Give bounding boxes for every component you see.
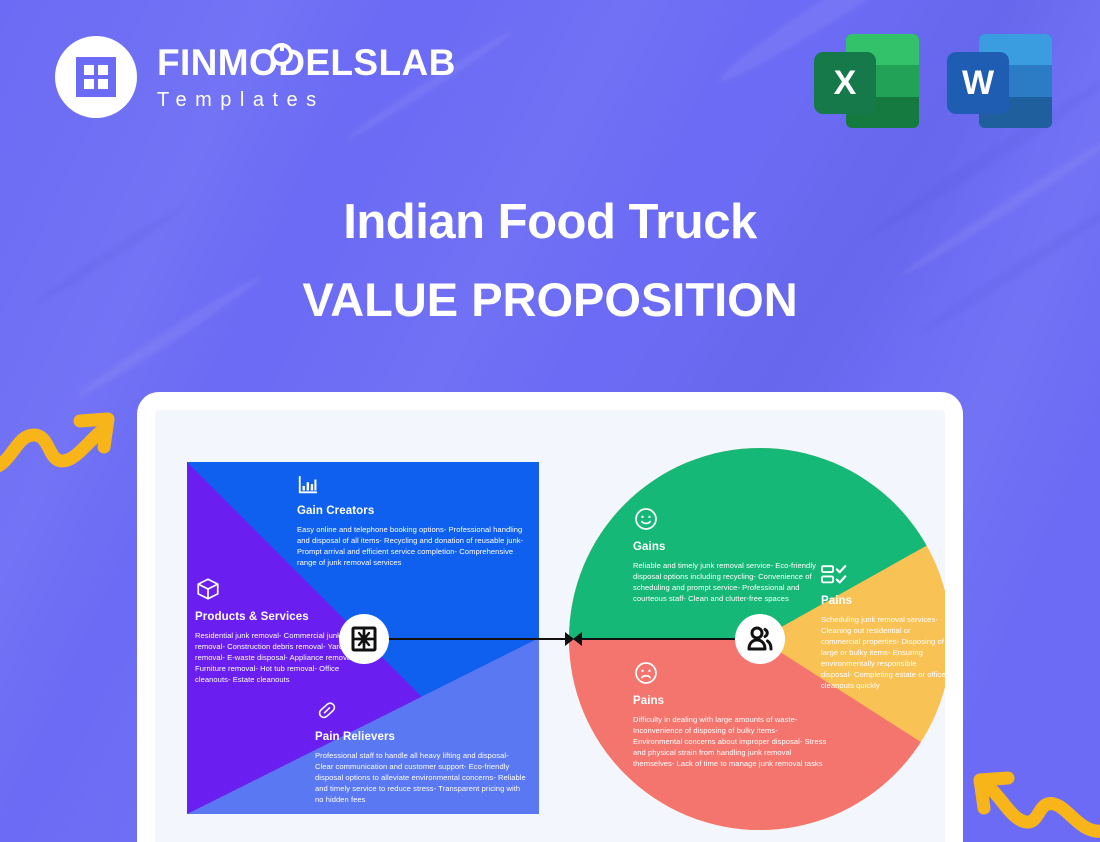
connector-line-left [387, 638, 573, 640]
brand-name: FINMODELSLAB [157, 44, 456, 81]
section-title: Products & Services [195, 611, 367, 623]
page-title: Indian Food Truck VALUE PROPOSITION [0, 196, 1100, 327]
section-title: Pains [633, 695, 829, 707]
section-title: Gains [633, 541, 823, 553]
value-proposition-canvas: Gain Creators Easy online and telephone … [187, 438, 913, 834]
title-line-1: Indian Food Truck [0, 196, 1100, 250]
word-letter: W [947, 52, 1009, 114]
connector-line-right [579, 638, 739, 640]
value-map-center-badge[interactable] [339, 614, 389, 664]
brand-text: FINMODELSLAB Templates [157, 42, 456, 112]
pill-capsule-icon [315, 698, 339, 722]
smiley-happy-icon [633, 506, 659, 532]
section-title: Gain Creators [297, 505, 525, 517]
title-line-2: VALUE PROPOSITION [0, 272, 1100, 327]
checklist-icon [821, 564, 849, 586]
section-pain-relievers[interactable]: Pain Relievers Professional staff to han… [315, 698, 527, 805]
smiley-sad-icon [633, 660, 659, 686]
logo-power-dot-icon [270, 43, 293, 66]
section-body: Easy online and telephone booking option… [297, 524, 525, 568]
grid-squares-icon [55, 36, 137, 118]
section-body: Scheduling junk removal services- Cleani… [821, 614, 945, 691]
section-title: Pain Relievers [315, 731, 527, 743]
squiggle-arrow-down-left-icon [962, 748, 1100, 842]
bar-chart-icon [297, 474, 319, 496]
section-customer-jobs[interactable]: Pains Scheduling junk removal services- … [821, 564, 945, 691]
excel-letter: X [814, 52, 876, 114]
slide-canvas[interactable]: Gain Creators Easy online and telephone … [155, 410, 945, 842]
section-pains[interactable]: Pains Difficulty in dealing with large a… [633, 660, 829, 769]
section-title: Pains [821, 595, 945, 607]
section-body: Professional staff to handle all heavy l… [315, 750, 527, 805]
excel-icon[interactable]: X [814, 30, 919, 128]
squiggle-arrow-up-right-icon [0, 405, 122, 485]
box-package-icon [195, 576, 221, 602]
word-icon[interactable]: W [947, 30, 1052, 128]
section-body: Difficulty in dealing with large amounts… [633, 714, 829, 769]
customer-people-icon [744, 623, 776, 655]
gift-target-icon [348, 623, 380, 655]
brand-logo[interactable]: FINMODELSLAB Templates [55, 36, 456, 118]
section-gains[interactable]: Gains Reliable and timely junk removal s… [633, 506, 823, 604]
arrow-head-left-icon [573, 632, 582, 646]
customer-center-badge[interactable] [735, 614, 785, 664]
file-format-badges: X W [814, 30, 1052, 128]
brand-tagline: Templates [157, 89, 456, 112]
section-gain-creators[interactable]: Gain Creators Easy online and telephone … [297, 474, 525, 568]
device-frame: Gain Creators Easy online and telephone … [137, 392, 963, 842]
section-body: Reliable and timely junk removal service… [633, 560, 823, 604]
